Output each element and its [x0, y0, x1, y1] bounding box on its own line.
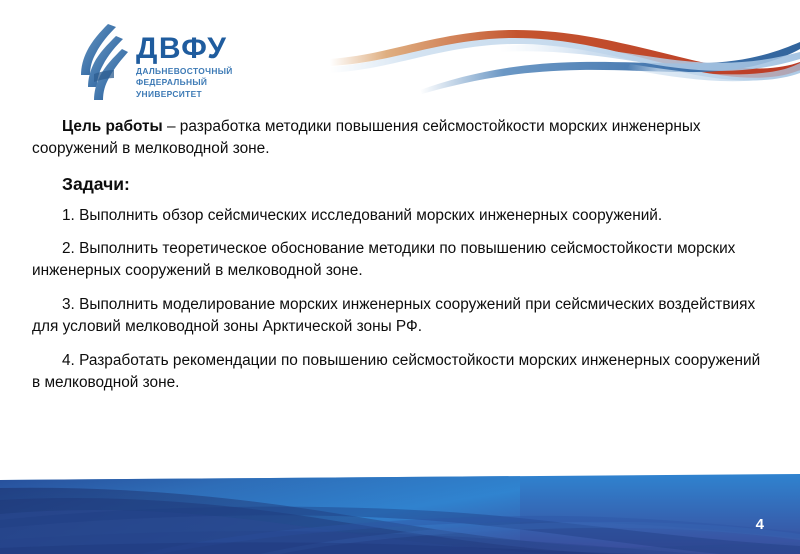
goal-label: Цель работы	[62, 118, 163, 135]
task-item-3: 3. Выполнить моделирование морских инжен…	[32, 294, 768, 338]
logo-subtitle: ДАЛЬНЕВОСТОЧНЫЙ ФЕДЕРАЛЬНЫЙ УНИВЕРСИТЕТ	[136, 66, 233, 99]
logo-wordmark: ДВФУ ДАЛЬНЕВОСТОЧНЫЙ ФЕДЕРАЛЬНЫЙ УНИВЕРС…	[136, 28, 233, 99]
task-item-4: 4. Разработать рекомендации по повышению…	[32, 350, 768, 394]
task-item-2: 2. Выполнить теоретическое обоснование м…	[32, 238, 768, 282]
decorative-ribbon-wave	[330, 12, 800, 107]
logo-subtitle-line-1: ДАЛЬНЕВОСТОЧНЫЙ	[136, 66, 233, 77]
logo-acronym: ДВФУ	[136, 34, 233, 64]
logo-subtitle-line-3: УНИВЕРСИТЕТ	[136, 89, 233, 100]
logo-subtitle-line-2: ФЕДЕРАЛЬНЫЙ	[136, 77, 233, 88]
goal-paragraph: Цель работы – разработка методики повыше…	[32, 116, 768, 160]
presentation-slide: ДВФУ ДАЛЬНЕВОСТОЧНЫЙ ФЕДЕРАЛЬНЫЙ УНИВЕРС…	[0, 0, 800, 554]
tasks-heading: Задачи:	[32, 173, 768, 196]
slide-content: Цель работы – разработка методики повыше…	[32, 116, 768, 406]
dvfu-emblem-icon	[78, 22, 130, 106]
university-logo: ДВФУ ДАЛЬНЕВОСТОЧНЫЙ ФЕДЕРАЛЬНЫЙ УНИВЕРС…	[78, 22, 233, 106]
footer-wave-band	[0, 470, 800, 554]
slide-number: 4	[756, 516, 764, 533]
task-item-1: 1. Выполнить обзор сейсмических исследов…	[32, 205, 768, 227]
